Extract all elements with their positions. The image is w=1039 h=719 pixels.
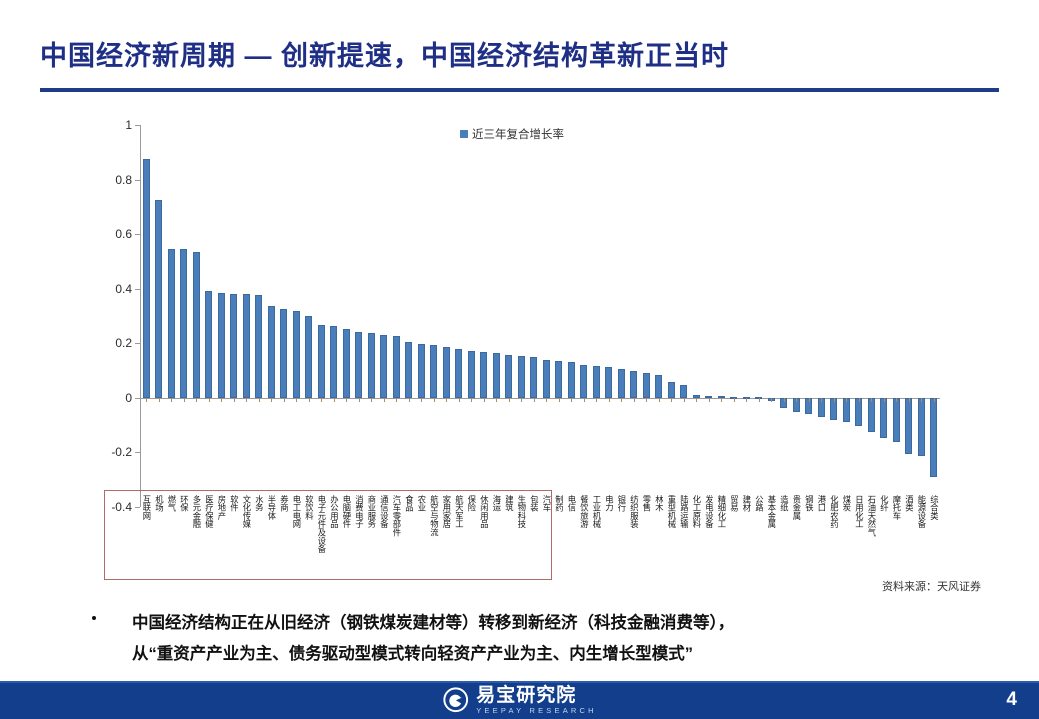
x-tick-mark <box>934 398 935 402</box>
x-axis-label: 重型机械 <box>667 495 676 528</box>
x-axis-label: 基本金属 <box>767 495 776 528</box>
bar <box>855 398 862 427</box>
bar <box>443 347 450 397</box>
x-axis-label: 钢铁 <box>804 495 813 512</box>
x-axis-label: 家用家居 <box>442 495 451 528</box>
x-axis-label: 券商 <box>279 495 288 512</box>
x-tick-mark <box>696 398 697 402</box>
bar <box>680 385 687 398</box>
bar <box>155 200 162 398</box>
x-axis-label: 能源设备 <box>917 495 926 528</box>
x-axis-label: 电脑硬件 <box>342 495 351 528</box>
x-tick-mark <box>209 398 210 402</box>
x-tick-mark <box>171 398 172 402</box>
x-axis-label: 港口 <box>817 495 826 512</box>
bar <box>655 375 662 397</box>
x-axis-label: 食品 <box>404 495 413 512</box>
x-axis-label: 电子元件及设备 <box>317 495 326 553</box>
y-tick-label: 0.4 <box>115 282 132 296</box>
bar <box>268 306 275 398</box>
x-tick-mark <box>721 398 722 402</box>
x-tick-mark <box>421 398 422 402</box>
y-tick-label: 0.6 <box>115 227 132 241</box>
x-tick-mark <box>446 398 447 402</box>
x-tick-mark <box>496 398 497 402</box>
x-tick-mark <box>821 398 822 402</box>
bar <box>193 252 200 398</box>
bar <box>243 294 250 398</box>
bar <box>918 398 925 456</box>
bar <box>618 369 625 398</box>
bullet-block: 中国经济结构正在从旧经济（钢铁煤炭建材等）转移到新经济（科技金融消费等）， 从“… <box>92 608 992 670</box>
bar <box>568 362 575 397</box>
x-tick-mark <box>634 398 635 402</box>
x-axis-label: 医疗保健 <box>204 495 213 528</box>
footer-bar: 易宝研究院 YEEPAY RESEARCH 4 <box>0 681 1039 719</box>
footer-logo-en: YEEPAY RESEARCH <box>476 707 597 715</box>
x-axis-label: 精细化工 <box>717 495 726 528</box>
x-axis-label: 文化传媒 <box>242 495 251 528</box>
bar <box>343 329 350 398</box>
x-axis-label: 零售 <box>642 495 651 512</box>
source-note: 资料来源：天风证券 <box>882 578 981 594</box>
x-axis-label: 建筑 <box>504 495 513 512</box>
x-axis-label: 软饮料 <box>304 495 313 520</box>
y-tick-label: 0 <box>125 391 132 405</box>
bar <box>355 332 362 398</box>
x-axis-label: 工业机械 <box>592 495 601 528</box>
x-tick-mark <box>321 398 322 402</box>
x-axis-label: 林木 <box>654 495 663 512</box>
x-tick-mark <box>359 398 360 402</box>
x-tick-mark <box>796 398 797 402</box>
x-axis-label: 商业服务 <box>367 495 376 528</box>
bullet-line-2: 从“重资产产业为主、债务驱动型模式转向轻资产产业为主、内生增长型模式” <box>132 639 992 670</box>
x-axis-label: 酒类 <box>904 495 913 512</box>
bar <box>905 398 912 454</box>
y-tick-label: 1 <box>125 118 132 132</box>
x-tick-mark <box>659 398 660 402</box>
title-underline-rule <box>40 88 999 92</box>
x-tick-mark <box>859 398 860 402</box>
x-tick-mark <box>834 398 835 402</box>
x-axis-label: 发电设备 <box>704 495 713 528</box>
chart-container: 近三年复合增长率 10.80.60.40.20-0.2-0.4 互联网机场燃气环… <box>0 110 1039 600</box>
bar <box>605 367 612 398</box>
bar <box>593 366 600 398</box>
x-tick-mark <box>521 398 522 402</box>
x-axis-label: 多元金融 <box>192 495 201 528</box>
bullet-line-1: 中国经济结构正在从旧经济（钢铁煤炭建材等）转移到新经济（科技金融消费等）， <box>132 608 992 639</box>
bar <box>530 357 537 397</box>
x-axis-label: 半导体 <box>267 495 276 520</box>
x-axis-label: 造纸 <box>779 495 788 512</box>
x-tick-mark <box>296 398 297 402</box>
bar <box>218 293 225 398</box>
x-tick-mark <box>546 398 547 402</box>
x-axis-label: 包装 <box>529 495 538 512</box>
bar <box>318 325 325 398</box>
x-tick-mark <box>371 398 372 402</box>
x-axis-label: 消费电子 <box>354 495 363 528</box>
x-tick-mark <box>671 398 672 402</box>
y-tick-label: 0.2 <box>115 336 132 350</box>
x-tick-mark <box>384 398 385 402</box>
bar <box>205 291 212 397</box>
bar <box>280 309 287 398</box>
x-tick-mark <box>621 398 622 402</box>
x-axis-label: 综合类 <box>929 495 938 520</box>
bar <box>893 398 900 442</box>
x-axis-label: 农业 <box>417 495 426 512</box>
x-axis-label: 汽车零部件 <box>392 495 401 537</box>
x-axis-label: 电工电网 <box>292 495 301 528</box>
bar <box>880 398 887 438</box>
x-axis-label: 环保 <box>179 495 188 512</box>
bar <box>418 344 425 398</box>
x-tick-mark <box>471 398 472 402</box>
bar <box>168 249 175 398</box>
x-tick-mark <box>346 398 347 402</box>
x-tick-mark <box>434 398 435 402</box>
bar <box>230 294 237 398</box>
bar <box>380 335 387 398</box>
bar <box>180 249 187 398</box>
x-axis-label: 房地产 <box>217 495 226 520</box>
x-tick-mark <box>146 398 147 402</box>
x-axis-label: 摩托车 <box>892 495 901 520</box>
footer-logo: 易宝研究院 YEEPAY RESEARCH <box>442 686 597 715</box>
bar <box>480 352 487 398</box>
bar <box>580 365 587 398</box>
x-axis-label: 生物科技 <box>517 495 526 528</box>
x-axis-label: 航天军工 <box>454 495 463 528</box>
x-tick-mark <box>534 398 535 402</box>
x-tick-mark <box>871 398 872 402</box>
bar <box>930 398 937 477</box>
bar <box>543 360 550 398</box>
x-axis-label: 通信设备 <box>379 495 388 528</box>
x-tick-mark <box>334 398 335 402</box>
x-axis-label: 银行 <box>617 495 626 512</box>
x-axis-label: 制药 <box>554 495 563 512</box>
y-tick-label: 0.8 <box>115 173 132 187</box>
x-tick-mark <box>184 398 185 402</box>
bar <box>293 311 300 398</box>
x-axis-label: 纺织服装 <box>629 495 638 528</box>
x-tick-mark <box>921 398 922 402</box>
bar <box>330 326 337 397</box>
x-axis-label: 休闲用品 <box>479 495 488 528</box>
x-axis-label: 水务 <box>254 495 263 512</box>
x-tick-mark <box>884 398 885 402</box>
x-axis-label: 软件 <box>229 495 238 512</box>
bar <box>468 351 475 398</box>
x-axis-label: 海运 <box>492 495 501 512</box>
x-axis-label: 日用化工 <box>854 495 863 528</box>
x-axis-category-labels: 互联网机场燃气环保多元金融医疗保健房地产软件文化传媒水务半导体券商电工电网软饮料… <box>140 495 940 603</box>
x-axis-label: 互联网 <box>142 495 151 520</box>
x-tick-mark <box>409 398 410 402</box>
footer-logo-cn: 易宝研究院 <box>476 686 597 705</box>
x-tick-mark <box>646 398 647 402</box>
x-axis-label: 陆路运输 <box>679 495 688 528</box>
x-tick-mark <box>246 398 247 402</box>
x-tick-mark <box>271 398 272 402</box>
x-axis-label: 煤炭 <box>842 495 851 512</box>
bar <box>555 361 562 398</box>
x-tick-mark <box>896 398 897 402</box>
bullet-dot-icon <box>92 616 96 620</box>
bar <box>368 333 375 397</box>
x-tick-mark <box>284 398 285 402</box>
x-tick-mark <box>509 398 510 402</box>
x-tick-mark <box>559 398 560 402</box>
x-tick-mark <box>571 398 572 402</box>
y-tick-label: -0.2 <box>111 445 132 459</box>
x-tick-mark <box>746 398 747 402</box>
bar-series <box>140 125 940 507</box>
x-tick-mark <box>784 398 785 402</box>
page-number: 4 <box>1006 689 1017 711</box>
bar <box>255 295 262 398</box>
x-axis-label: 公路 <box>754 495 763 512</box>
x-axis-label: 贵金属 <box>792 495 801 520</box>
x-tick-mark <box>709 398 710 402</box>
plot-area: 10.80.60.40.20-0.2-0.4 <box>140 125 940 507</box>
x-tick-mark <box>846 398 847 402</box>
x-tick-mark <box>221 398 222 402</box>
page-title: 中国经济新周期 — 创新提速，中国经济结构革新正当时 <box>40 34 729 73</box>
x-axis-label: 贸易 <box>729 495 738 512</box>
bar <box>430 345 437 397</box>
x-axis-label: 汽车 <box>542 495 551 512</box>
bar <box>868 398 875 432</box>
x-tick-mark <box>759 398 760 402</box>
x-axis-label: 机场 <box>154 495 163 512</box>
x-axis-label: 航空与物流 <box>429 495 438 537</box>
circle-e-icon <box>442 687 468 713</box>
footer-top-edge <box>0 681 1039 683</box>
x-axis-label: 化纤 <box>879 495 888 512</box>
x-tick-mark <box>484 398 485 402</box>
x-tick-mark <box>596 398 597 402</box>
x-axis-label: 餐饮旅游 <box>579 495 588 528</box>
x-axis-label: 建材 <box>742 495 751 512</box>
x-tick-mark <box>909 398 910 402</box>
x-tick-mark <box>159 398 160 402</box>
x-axis-label: 电力 <box>604 495 613 512</box>
bar <box>630 371 637 398</box>
x-axis-label: 办公用品 <box>329 495 338 528</box>
x-axis-label: 化肥农药 <box>829 495 838 528</box>
x-axis-label: 石油天然气 <box>867 495 876 537</box>
bar <box>493 353 500 397</box>
footer-logo-text: 易宝研究院 YEEPAY RESEARCH <box>476 686 597 715</box>
bar <box>405 342 412 398</box>
x-tick-mark <box>734 398 735 402</box>
x-tick-mark <box>771 398 772 402</box>
bar <box>305 316 312 398</box>
x-tick-mark <box>684 398 685 402</box>
x-axis-label: 电信 <box>567 495 576 512</box>
bar <box>505 355 512 398</box>
x-tick-mark <box>259 398 260 402</box>
x-tick-mark <box>584 398 585 402</box>
bar <box>668 382 675 398</box>
bar <box>643 373 650 398</box>
x-tick-mark <box>196 398 197 402</box>
x-tick-mark <box>309 398 310 402</box>
x-tick-mark <box>459 398 460 402</box>
bar <box>393 336 400 398</box>
x-tick-mark <box>234 398 235 402</box>
x-tick-mark <box>809 398 810 402</box>
x-tick-mark <box>396 398 397 402</box>
bar <box>518 356 525 397</box>
bar <box>455 349 462 398</box>
x-tick-mark <box>609 398 610 402</box>
bar <box>143 159 150 398</box>
x-axis-label: 保险 <box>467 495 476 512</box>
x-axis-label: 化工原料 <box>692 495 701 528</box>
x-axis-label: 燃气 <box>167 495 176 512</box>
